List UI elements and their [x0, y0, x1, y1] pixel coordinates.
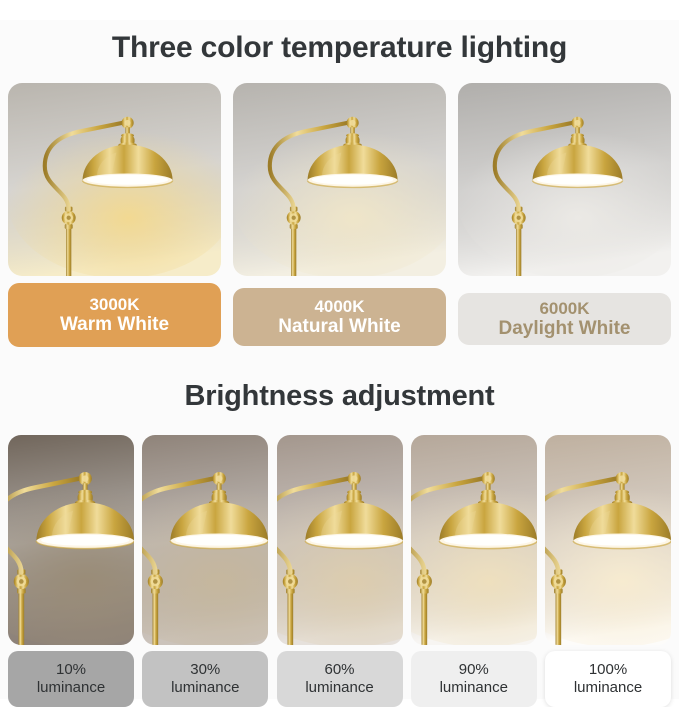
brightness-label-30pct: 30%luminance — [142, 651, 268, 707]
floor-lamp-icon — [233, 83, 446, 276]
kelvin-value: 6000K — [539, 299, 589, 318]
color-temperature-name: Warm White — [60, 314, 169, 335]
brightness-photo-100pct — [545, 435, 671, 645]
brightness-photo-row — [0, 435, 679, 645]
floor-lamp-icon — [277, 435, 403, 645]
brightness-percent: 100% — [589, 661, 627, 679]
brightness-percent: 30% — [190, 661, 220, 679]
color-temperature-photo-row — [0, 83, 679, 276]
floor-lamp-icon — [8, 435, 134, 645]
color-temperature-label-row: 3000KWarm White4000KNatural White6000KDa… — [0, 283, 679, 347]
brightness-unit: luminance — [574, 679, 642, 697]
brightness-photo-60pct — [277, 435, 403, 645]
brightness-percent: 60% — [324, 661, 354, 679]
brightness-label-60pct: 60%luminance — [277, 651, 403, 707]
kelvin-value: 4000K — [314, 297, 364, 316]
floor-lamp-icon — [142, 435, 268, 645]
brightness-label-row: 10%luminance30%luminance60%luminance90%l… — [0, 651, 679, 707]
floor-lamp-icon — [458, 83, 671, 276]
infographic-page: Three color temperature lighting — [0, 20, 679, 699]
color-temperature-label-6000k: 6000KDaylight White — [458, 293, 671, 345]
color-temperature-photo-4000k — [233, 83, 446, 276]
brightness-unit: luminance — [440, 679, 508, 697]
brightness-unit: luminance — [37, 679, 105, 697]
brightness-photo-10pct — [8, 435, 134, 645]
floor-lamp-icon — [411, 435, 537, 645]
brightness-label-90pct: 90%luminance — [411, 651, 537, 707]
brightness-label-10pct: 10%luminance — [8, 651, 134, 707]
color-temperature-label-3000k: 3000KWarm White — [8, 283, 221, 347]
color-temperature-photo-6000k — [458, 83, 671, 276]
brightness-percent: 10% — [56, 661, 86, 679]
floor-lamp-icon — [545, 435, 671, 645]
brightness-label-100pct: 100%luminance — [545, 651, 671, 707]
brightness-unit: luminance — [171, 679, 239, 697]
brightness-photo-30pct — [142, 435, 268, 645]
floor-lamp-icon — [8, 83, 221, 276]
color-temperature-name: Daylight White — [499, 318, 631, 339]
color-temperature-label-4000k: 4000KNatural White — [233, 288, 446, 346]
brightness-photo-90pct — [411, 435, 537, 645]
color-temperature-name: Natural White — [278, 316, 400, 337]
brightness-unit: luminance — [305, 679, 373, 697]
section-title-brightness: Brightness adjustment — [0, 371, 679, 411]
kelvin-value: 3000K — [89, 295, 139, 314]
page-title-color-temperature: Three color temperature lighting — [0, 20, 679, 63]
color-temperature-photo-3000k — [8, 83, 221, 276]
brightness-percent: 90% — [459, 661, 489, 679]
